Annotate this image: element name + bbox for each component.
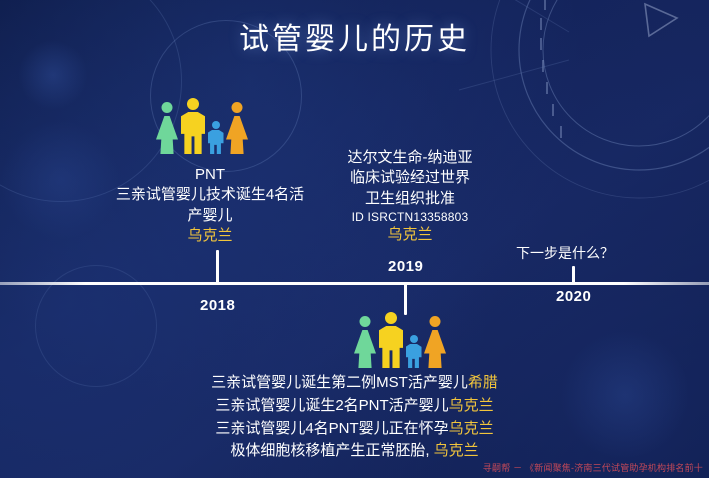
timeline-year-2019: 2019: [388, 258, 423, 275]
connector-2019: [404, 283, 407, 315]
trial-id: ID ISRCTN13358803: [325, 209, 495, 225]
page-title: 试管婴儿的历史: [0, 14, 709, 58]
figure-man-yellow-icon: [180, 98, 206, 154]
watermark: 寻嗣帮 － 《新闻聚焦-济南三代试管助孕机构排名前十: [483, 461, 703, 474]
figure-woman-orange-icon: [423, 316, 447, 368]
darwin-line-1: 达尔文生命-纳迪亚: [325, 148, 495, 168]
connector-2018: [216, 250, 219, 283]
result-text: 极体细胞核移植产生正常胚胎,: [230, 442, 433, 459]
family-icon-group-bottom: [353, 312, 447, 368]
timeline-year-2020: 2020: [556, 288, 591, 305]
timeline-year-2018: 2018: [200, 297, 235, 314]
figure-child-blue-icon: [207, 121, 224, 154]
timeline-tick-2020: [572, 266, 575, 283]
result-text: 三亲试管婴儿4名PNT婴儿正在怀孕: [215, 420, 448, 437]
result-line: 三亲试管婴儿诞生2名PNT活产婴儿乌克兰: [0, 395, 709, 418]
result-text: 三亲试管婴儿诞生2名PNT活产婴儿: [215, 397, 448, 414]
result-country: 希腊: [468, 374, 498, 391]
result-country: 乌克兰: [434, 442, 479, 459]
darwin-line-3: 卫生组织批准: [325, 189, 495, 209]
slide-root: 试管婴儿的历史 PNT 三亲试管婴儿技术诞生4名活 产婴儿 乌克兰 达尔文生命-…: [0, 0, 709, 478]
figure-woman-orange-icon: [225, 102, 249, 154]
timeline-axis: [0, 282, 709, 285]
result-country: 乌克兰: [449, 420, 494, 437]
next-step-question: 下一步是什么？: [516, 243, 614, 263]
result-line: 极体细胞核移植产生正常胚胎, 乌克兰: [0, 440, 709, 463]
result-line: 三亲试管婴儿4名PNT婴儿正在怀孕乌克兰: [0, 418, 709, 441]
darwin-line-2: 临床试验经过世界: [325, 168, 495, 188]
result-text: 三亲试管婴儿诞生第二例MST活产婴儿: [211, 374, 468, 391]
family-icon-group-top: [155, 98, 249, 154]
figure-man-yellow-icon: [378, 312, 404, 368]
2019-results-block: 三亲试管婴儿诞生第二例MST活产婴儿希腊 三亲试管婴儿诞生2名PNT活产婴儿乌克…: [0, 372, 709, 463]
darwin-life-nadiya-block: 达尔文生命-纳迪亚 临床试验经过世界 卫生组织批准 ID ISRCTN13358…: [325, 148, 495, 245]
figure-woman-green-icon: [155, 102, 179, 154]
result-line: 三亲试管婴儿诞生第二例MST活产婴儿希腊: [0, 372, 709, 395]
result-country: 乌克兰: [449, 397, 494, 414]
darwin-country: 乌克兰: [325, 225, 495, 245]
figure-child-blue-icon: [405, 335, 422, 368]
figure-woman-green-icon: [353, 316, 377, 368]
